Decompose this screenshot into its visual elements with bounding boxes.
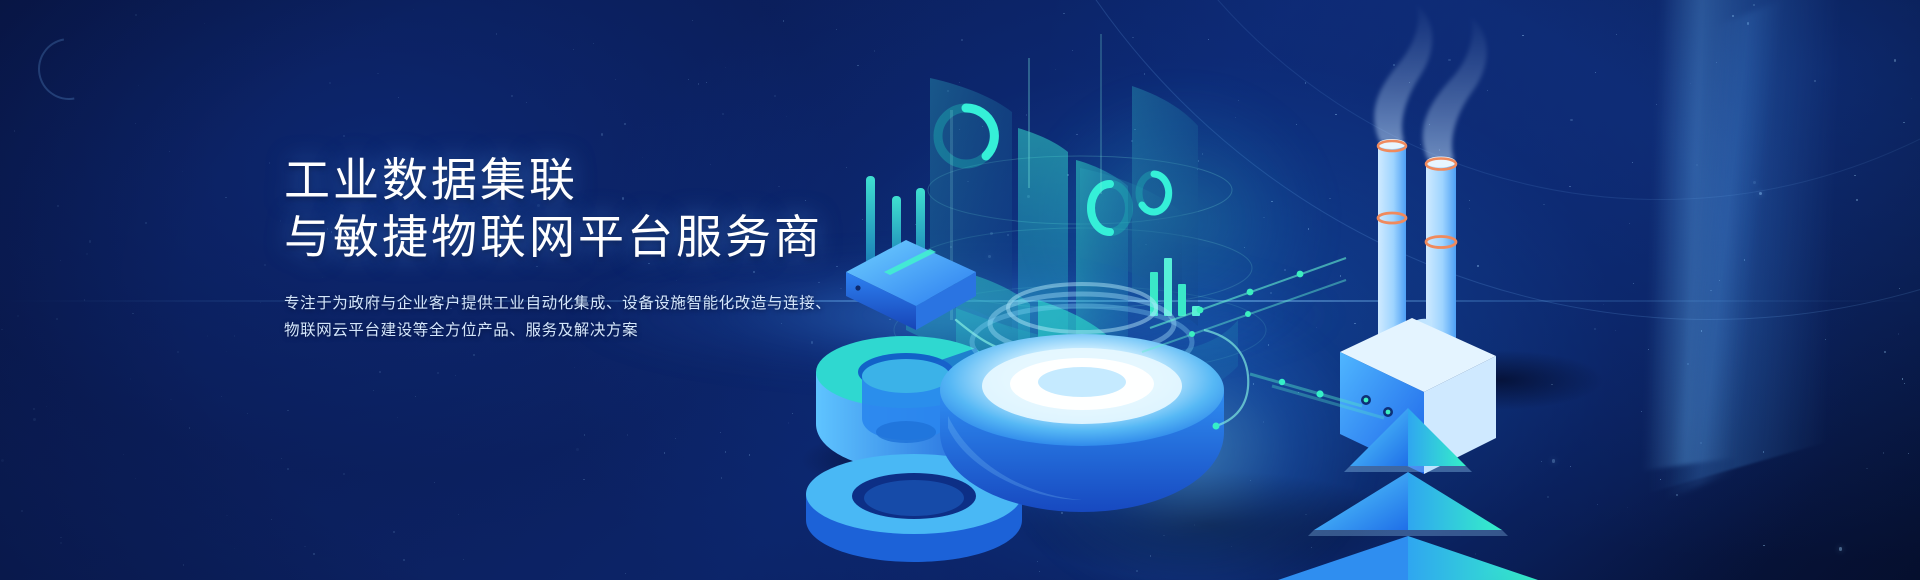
cyl-inner-col-top (862, 359, 950, 393)
headline-line-1: 工业数据集联 (284, 152, 984, 209)
headline-line-2: 与敏捷物联网平台服务商 (284, 209, 984, 266)
smoke-plume-2 (1423, 16, 1487, 160)
hero-copy-block: 工业数据集联 与敏捷物联网平台服务商 专注于为政府与企业客户提供工业自动化集成、… (284, 152, 984, 344)
subtitle-line-2: 物联网云平台建设等全方位产品、服务及解决方案 (284, 317, 984, 344)
pyramid-tier3-right (1408, 536, 1538, 580)
subtitle-line-1: 专注于为政府与企业客户提供工业自动化集成、设备设施智能化改造与连接、 (284, 290, 984, 317)
stack-1-pipe (1378, 144, 1406, 352)
core-core (1038, 367, 1126, 397)
pyramid-tier2-left (1314, 472, 1408, 530)
ring-hole-inner (864, 480, 964, 516)
smoke-plume-1 (1374, 4, 1432, 142)
factory-smokestacks (1340, 4, 1496, 474)
cyl-inner-col-base (876, 421, 936, 443)
pyramid-tier3-left (1278, 536, 1408, 580)
crescent-moon-icon (26, 26, 112, 112)
pyramid-tier2-right (1408, 472, 1502, 530)
layered-pyramid (1278, 408, 1538, 580)
hero-banner: 工业数据集联 与敏捷物联网平台服务商 专注于为政府与企业客户提供工业自动化集成、… (0, 0, 1920, 580)
